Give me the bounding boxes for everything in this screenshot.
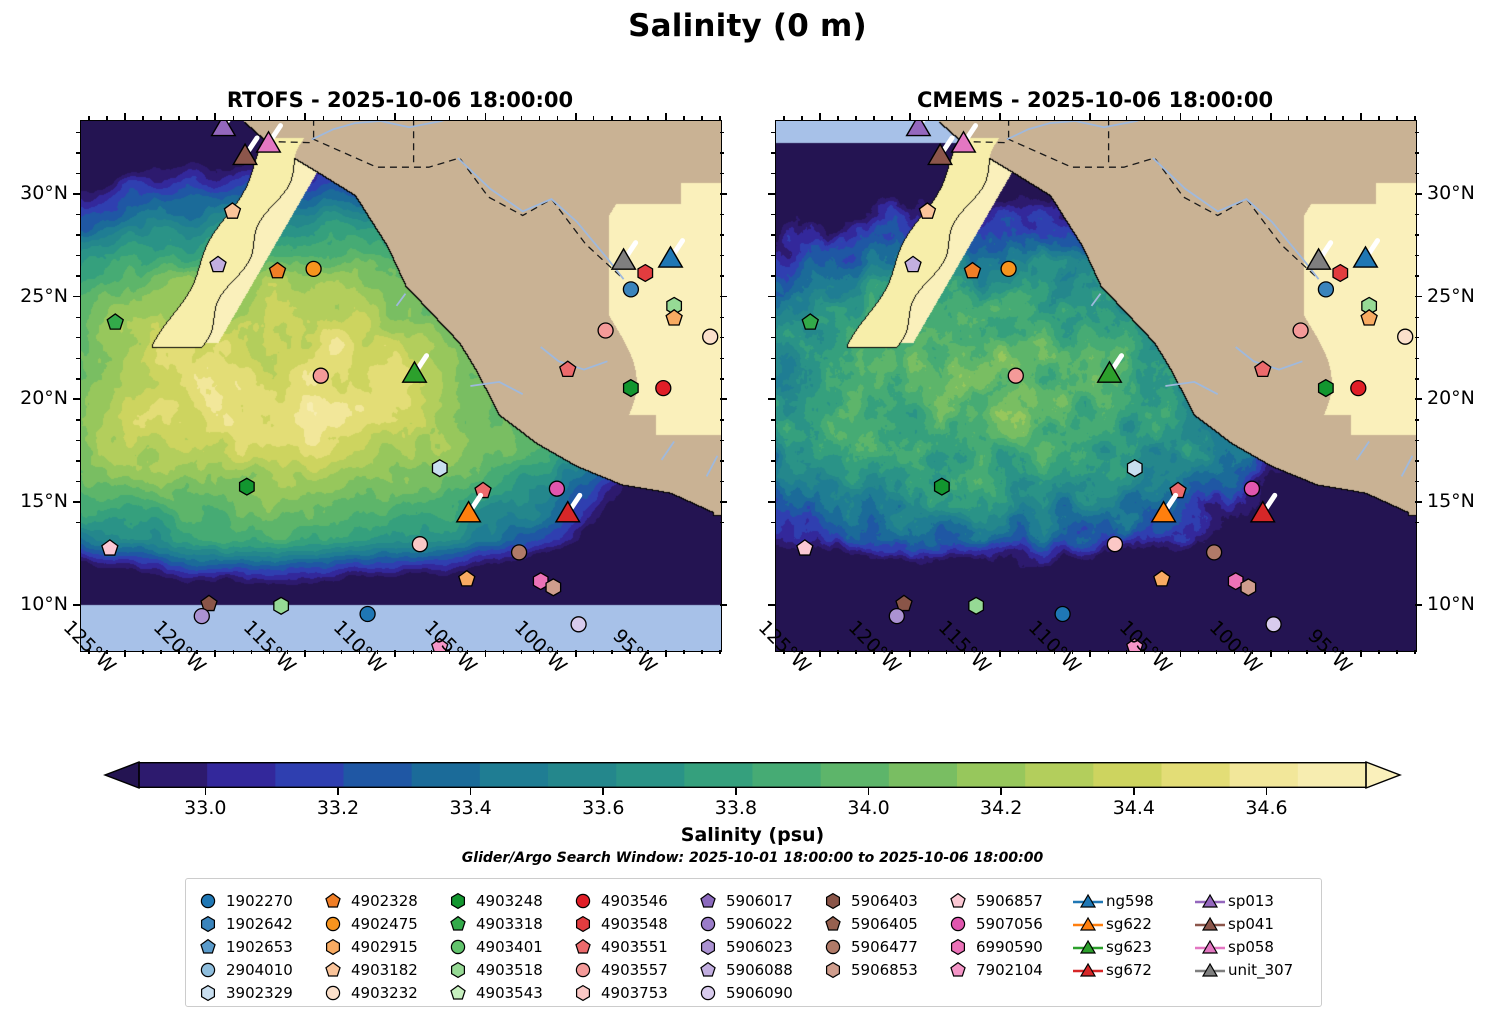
float-marker[interactable] — [549, 481, 564, 496]
float-marker[interactable] — [1255, 361, 1271, 376]
float-marker[interactable] — [194, 609, 209, 624]
float-marker[interactable] — [459, 571, 475, 586]
argo-marker[interactable] — [1266, 617, 1281, 632]
legend-entry[interactable]: 4902915 — [319, 935, 418, 958]
legend-entry[interactable]: 5906853 — [819, 958, 918, 981]
argo-marker[interactable] — [1319, 380, 1334, 397]
ytick-label: 10°N — [1427, 593, 1475, 615]
xtick-minor — [1234, 650, 1235, 654]
xtick-mark — [909, 113, 911, 120]
xtick-minor — [1306, 650, 1307, 654]
float-marker[interactable] — [1354, 241, 1378, 267]
float-marker[interactable] — [797, 540, 813, 555]
float-marker[interactable] — [412, 537, 427, 552]
xtick-mark — [1089, 113, 1091, 120]
legend-pentagon-icon — [201, 939, 215, 952]
legend-entry[interactable]: 4903318 — [444, 912, 543, 935]
float-marker[interactable] — [919, 203, 935, 218]
ytick-minor — [1415, 152, 1419, 153]
legend-entry[interactable]: 5906088 — [694, 958, 793, 981]
float-marker[interactable] — [210, 256, 226, 271]
xtick-minor — [196, 650, 197, 654]
legend-entry[interactable]: 4903232 — [319, 981, 418, 1004]
float-marker[interactable] — [703, 329, 718, 344]
float-marker[interactable] — [571, 617, 586, 632]
legend-marker — [444, 961, 472, 979]
legend-entry[interactable]: 4903551 — [569, 935, 668, 958]
legend-entry[interactable]: 4903753 — [569, 981, 668, 1004]
argo-marker[interactable] — [432, 460, 447, 477]
legend-pentagon-icon — [451, 916, 465, 929]
float-marker[interactable] — [928, 138, 952, 164]
argo-marker[interactable] — [656, 381, 671, 396]
xtick-mark — [304, 650, 306, 657]
legend-entry[interactable]: 5906022 — [694, 912, 793, 935]
argo-marker[interactable] — [1154, 571, 1170, 586]
xtick-mark — [124, 113, 126, 120]
argo-marker[interactable] — [224, 203, 240, 218]
xtick-minor — [1036, 116, 1037, 120]
legend-entry[interactable]: 4903518 — [444, 958, 543, 981]
xtick-mark — [304, 113, 306, 120]
argo-marker[interactable] — [412, 537, 427, 552]
argo-marker[interactable] — [703, 329, 718, 344]
xtick-minor — [891, 116, 892, 120]
glider-marker[interactable] — [907, 120, 931, 136]
xtick-minor — [683, 650, 684, 654]
ytick-minor — [76, 255, 80, 256]
float-marker[interactable] — [952, 126, 976, 153]
xtick-minor — [1036, 650, 1037, 654]
float-marker[interactable] — [1207, 545, 1222, 560]
legend-entry[interactable]: 5906477 — [819, 935, 918, 958]
legend-entry[interactable]: 1902642 — [194, 912, 293, 935]
argo-marker[interactable] — [571, 617, 586, 632]
legend-label: 4903753 — [597, 984, 668, 1002]
colorbar-band — [1162, 762, 1231, 788]
legend-marker — [444, 938, 472, 956]
xtick-minor — [837, 650, 838, 654]
float-marker[interactable] — [224, 203, 240, 218]
float-marker[interactable] — [270, 263, 286, 278]
argo-marker[interactable] — [1127, 460, 1142, 477]
float-marker[interactable] — [1154, 571, 1170, 586]
legend-label: 7902104 — [972, 961, 1043, 979]
glider-track — [272, 126, 280, 138]
legend-entry[interactable]: 4903557 — [569, 958, 668, 981]
float-marker[interactable] — [612, 243, 636, 270]
argo-marker[interactable] — [102, 540, 118, 555]
xtick-minor — [449, 116, 450, 120]
float-marker[interactable] — [306, 261, 321, 276]
float-marker[interactable] — [257, 126, 281, 153]
legend-marker — [194, 915, 222, 933]
argo-marker[interactable] — [965, 263, 981, 278]
xtick-mark — [909, 650, 911, 657]
legend-circle-icon — [576, 963, 589, 976]
float-marker[interactable] — [1251, 495, 1275, 521]
argo-marker[interactable] — [560, 361, 576, 376]
legend-entry[interactable]: 3902329 — [194, 981, 293, 1004]
legend-entry[interactable]: ng598 — [1074, 889, 1154, 912]
xtick-minor — [593, 116, 594, 120]
ytick-mark — [1415, 398, 1422, 400]
legend-entry[interactable]: 5907056 — [944, 912, 1043, 935]
ytick-minor — [1415, 358, 1419, 359]
xtick-minor — [1144, 116, 1145, 120]
legend-marker — [444, 915, 472, 933]
float-marker[interactable] — [666, 310, 682, 325]
ytick-minor — [771, 419, 775, 420]
legend-entry[interactable]: 5906017 — [694, 889, 793, 912]
float-marker[interactable] — [1361, 310, 1377, 325]
xtick-mark — [214, 650, 216, 657]
float-marker[interactable] — [623, 282, 638, 297]
xtick-minor — [269, 116, 270, 120]
map-axes-cmems[interactable] — [775, 120, 1417, 652]
map-overlay-cmems — [776, 121, 1416, 651]
ytick-minor — [771, 234, 775, 235]
argo-marker[interactable] — [1255, 361, 1271, 376]
float-marker[interactable] — [1244, 481, 1259, 496]
float-marker[interactable] — [1398, 329, 1413, 344]
legend-entry[interactable]: 4903401 — [444, 935, 543, 958]
float-marker[interactable] — [935, 478, 950, 495]
legend-label: 5906088 — [722, 961, 793, 979]
glider-track — [628, 243, 636, 255]
argo-marker[interactable] — [1351, 381, 1366, 396]
argo-marker[interactable] — [210, 256, 226, 271]
argo-marker[interactable] — [107, 314, 123, 329]
argo-marker[interactable] — [313, 368, 328, 383]
xtick-minor — [1288, 116, 1289, 120]
argo-marker[interactable] — [1333, 265, 1348, 282]
xtick-minor — [521, 116, 522, 120]
legend-label: 5906023 — [722, 938, 793, 956]
float-marker[interactable] — [432, 460, 447, 477]
legend-entry[interactable]: 4903543 — [444, 981, 543, 1004]
ytick-mark — [73, 296, 80, 298]
xtick-mark — [1360, 650, 1362, 657]
legend-column: 5906403590640559064775906853 — [819, 889, 918, 981]
xtick-minor — [88, 650, 89, 654]
float-marker[interactable] — [1008, 368, 1023, 383]
legend-entry[interactable]: 6990590 — [944, 935, 1043, 958]
ytick-minor — [720, 440, 724, 441]
ytick-minor — [1415, 481, 1419, 482]
xtick-minor — [467, 116, 468, 120]
float-marker[interactable] — [969, 597, 984, 614]
ytick-minor — [1415, 419, 1419, 420]
float-marker[interactable] — [638, 265, 653, 282]
argo-marker[interactable] — [546, 579, 561, 596]
argo-marker[interactable] — [919, 203, 935, 218]
legend-circle-icon — [326, 986, 339, 999]
argo-marker[interactable] — [935, 478, 950, 495]
ytick-mark — [768, 398, 775, 400]
float-marker[interactable] — [1293, 323, 1308, 338]
xtick-minor — [801, 650, 802, 654]
float-marker[interactable] — [546, 579, 561, 596]
glider-marker[interactable] — [212, 120, 236, 136]
ytick-label: 25°N — [1427, 285, 1475, 307]
float-marker[interactable] — [624, 380, 639, 397]
ytick-mark — [720, 501, 727, 503]
legend-entry[interactable]: unit_307 — [1196, 958, 1293, 981]
float-marker[interactable] — [659, 241, 683, 267]
legend-marker — [819, 892, 847, 910]
argo-marker[interactable] — [638, 265, 653, 282]
ytick-label: 30°N — [20, 182, 68, 204]
argo-marker[interactable] — [549, 481, 564, 496]
legend-entry[interactable]: 4902475 — [319, 912, 418, 935]
map-axes-rtofs[interactable] — [80, 120, 722, 652]
float-marker[interactable] — [1107, 537, 1122, 552]
argo-marker[interactable] — [1361, 310, 1377, 325]
legend-entry[interactable]: 4902328 — [319, 889, 418, 912]
legend-entry[interactable]: 4903548 — [569, 912, 668, 935]
argo-marker[interactable] — [1055, 607, 1070, 622]
xtick-minor — [269, 650, 270, 654]
xtick-minor — [1342, 116, 1343, 120]
legend-marker — [1074, 938, 1102, 956]
legend-hexagon-icon — [452, 893, 465, 908]
marker-legend[interactable]: 1902270190264219026532904010390232949023… — [185, 878, 1322, 1007]
argo-marker[interactable] — [1244, 481, 1259, 496]
float-marker[interactable] — [1307, 243, 1331, 270]
float-marker[interactable] — [1318, 282, 1333, 297]
legend-entry[interactable]: sp041 — [1196, 912, 1293, 935]
legend-entry[interactable]: 5906403 — [819, 889, 918, 912]
legend-marker — [1074, 892, 1102, 910]
xtick-minor — [323, 650, 324, 654]
float-marker[interactable] — [313, 368, 328, 383]
legend-entry[interactable]: 4903546 — [569, 889, 668, 912]
float-marker[interactable] — [1351, 381, 1366, 396]
panel-title-cmems: CMEMS - 2025-10-06 18:00:00 — [775, 88, 1415, 112]
legend-entry[interactable]: 5906023 — [694, 935, 793, 958]
float-marker[interactable] — [556, 495, 580, 521]
float-marker[interactable] — [889, 609, 904, 624]
float-marker[interactable] — [1001, 261, 1016, 276]
argo-marker[interactable] — [905, 256, 921, 271]
argo-marker[interactable] — [459, 571, 475, 586]
xtick-minor — [233, 650, 234, 654]
xtick-mark — [999, 113, 1001, 120]
ytick-minor — [720, 173, 724, 174]
float-marker[interactable] — [1055, 607, 1070, 622]
legend-entry[interactable]: 5906857 — [944, 889, 1043, 912]
ytick-minor — [76, 132, 80, 133]
argo-marker[interactable] — [797, 540, 813, 555]
ytick-minor — [76, 275, 80, 276]
legend-entry[interactable]: 5906405 — [819, 912, 918, 935]
legend-label: 5906477 — [847, 938, 918, 956]
argo-marker[interactable] — [969, 597, 984, 614]
float-marker[interactable] — [1241, 579, 1256, 596]
xtick-minor — [251, 116, 252, 120]
argo-marker[interactable] — [623, 282, 638, 297]
xtick-minor — [160, 116, 161, 120]
legend-entry[interactable]: 5906090 — [694, 981, 793, 1004]
ytick-minor — [720, 358, 724, 359]
colorbar-tick-label: 34.0 — [847, 797, 889, 819]
float-marker[interactable] — [1152, 495, 1176, 521]
ytick-mark — [720, 296, 727, 298]
argo-marker[interactable] — [598, 323, 613, 338]
argo-marker[interactable] — [270, 263, 286, 278]
xtick-minor — [521, 650, 522, 654]
xtick-minor — [539, 116, 540, 120]
argo-marker[interactable] — [194, 609, 209, 624]
float-marker[interactable] — [1319, 380, 1334, 397]
colorbar-under-arrow — [105, 762, 139, 788]
legend-entry[interactable]: sp058 — [1196, 935, 1293, 958]
legend-circle-icon — [326, 917, 339, 930]
search-window-note: Glider/Argo Search Window: 2025-10-01 18… — [105, 850, 1400, 866]
colorbar-tick-label: 33.8 — [715, 797, 757, 819]
xtick-minor — [1252, 650, 1253, 654]
xtick-mark — [575, 113, 577, 120]
xtick-minor — [928, 116, 929, 120]
argo-marker[interactable] — [240, 478, 255, 495]
colorbar-tick — [1266, 788, 1268, 795]
argo-marker[interactable] — [274, 597, 289, 614]
legend-column: 59060175906022590602359060885906090 — [694, 889, 793, 1004]
legend-pentagon-icon — [326, 962, 340, 975]
legend-column: 19022701902642190265329040103902329 — [194, 889, 293, 1004]
float-marker[interactable] — [212, 120, 236, 136]
legend-hexagon-icon — [452, 962, 465, 977]
float-marker[interactable] — [403, 356, 427, 383]
legend-label: sg623 — [1102, 938, 1152, 956]
legend-entry[interactable]: 1902270 — [194, 889, 293, 912]
argo-marker[interactable] — [1318, 282, 1333, 297]
float-marker[interactable] — [965, 263, 981, 278]
legend-marker — [944, 892, 972, 910]
legend-marker — [569, 961, 597, 979]
ytick-mark — [73, 501, 80, 503]
legend-marker — [819, 961, 847, 979]
colorbar-band — [480, 762, 549, 788]
legend-entry[interactable]: sp013 — [1196, 889, 1293, 912]
ytick-minor — [76, 440, 80, 441]
legend-entry[interactable]: sg672 — [1074, 958, 1154, 981]
legend-entry[interactable]: sg623 — [1074, 935, 1154, 958]
float-marker[interactable] — [905, 256, 921, 271]
legend-entry[interactable]: sg622 — [1074, 912, 1154, 935]
float-marker[interactable] — [102, 540, 118, 555]
xtick-minor — [413, 650, 414, 654]
xtick-minor — [1216, 116, 1217, 120]
legend-marker — [1196, 915, 1224, 933]
ytick-label: 10°N — [20, 593, 68, 615]
argo-marker[interactable] — [512, 545, 527, 560]
float-marker[interactable] — [598, 323, 613, 338]
float-marker[interactable] — [457, 495, 481, 521]
float-marker[interactable] — [274, 597, 289, 614]
float-marker[interactable] — [1266, 617, 1281, 632]
xtick-minor — [1072, 116, 1073, 120]
xtick-mark — [394, 113, 396, 120]
float-marker[interactable] — [1127, 460, 1142, 477]
colorbar-tick — [470, 788, 472, 795]
argo-marker[interactable] — [624, 380, 639, 397]
ytick-minor — [1415, 275, 1419, 276]
ytick-minor — [720, 152, 724, 153]
xtick-mark — [575, 650, 577, 657]
ytick-minor — [76, 317, 80, 318]
xtick-minor — [106, 650, 107, 654]
float-marker[interactable] — [240, 478, 255, 495]
argo-marker[interactable] — [1107, 537, 1122, 552]
float-marker[interactable] — [560, 361, 576, 376]
argo-marker[interactable] — [1293, 323, 1308, 338]
legend-circle-icon — [951, 917, 964, 930]
legend-marker — [319, 915, 347, 933]
colorbar-tick-label: 33.0 — [184, 797, 226, 819]
argo-marker[interactable] — [889, 609, 904, 624]
colorbar-tick — [1133, 788, 1135, 795]
colorbar-band — [412, 762, 481, 788]
colorbar-tick — [868, 788, 870, 795]
float-marker[interactable] — [907, 120, 931, 136]
float-marker[interactable] — [1333, 265, 1348, 282]
float-marker[interactable] — [360, 607, 375, 622]
ytick-mark — [720, 604, 727, 606]
argo-marker[interactable] — [1207, 545, 1222, 560]
ytick-label: 25°N — [20, 285, 68, 307]
legend-column: ng598sg622sg623sg672 — [1074, 889, 1154, 981]
argo-marker[interactable] — [306, 261, 321, 276]
colorbar-tick-label: 34.4 — [1113, 797, 1155, 819]
river-line — [1092, 294, 1101, 306]
legend-entry[interactable]: 1902653 — [194, 935, 293, 958]
argo-marker[interactable] — [802, 314, 818, 329]
ytick-label: 15°N — [1427, 490, 1475, 512]
river-line — [662, 442, 675, 461]
xtick-minor — [593, 650, 594, 654]
glider-track — [249, 138, 257, 150]
float-marker[interactable] — [512, 545, 527, 560]
float-marker[interactable] — [233, 138, 257, 164]
float-marker[interactable] — [656, 381, 671, 396]
glider-track — [675, 241, 683, 253]
argo-marker[interactable] — [1398, 329, 1413, 344]
argo-marker[interactable] — [666, 310, 682, 325]
float-marker[interactable] — [802, 314, 818, 329]
legend-entry[interactable]: 2904010 — [194, 958, 293, 981]
ytick-minor — [1415, 255, 1419, 256]
ytick-mark — [768, 296, 775, 298]
xtick-minor — [287, 116, 288, 120]
legend-entry[interactable]: 4903248 — [444, 889, 543, 912]
argo-marker[interactable] — [1241, 579, 1256, 596]
legend-marker — [1074, 961, 1102, 979]
legend-entry[interactable]: 4903182 — [319, 958, 418, 981]
xtick-minor — [503, 650, 504, 654]
legend-label: 5906857 — [972, 892, 1043, 910]
argo-marker[interactable] — [1001, 261, 1016, 276]
argo-marker[interactable] — [1008, 368, 1023, 383]
legend-entry[interactable]: 7902104 — [944, 958, 1043, 981]
argo-marker[interactable] — [360, 607, 375, 622]
float-marker[interactable] — [107, 314, 123, 329]
float-marker[interactable] — [1098, 356, 1122, 383]
xtick-minor — [1108, 650, 1109, 654]
legend-marker — [569, 938, 597, 956]
colorbar-band — [275, 762, 344, 788]
